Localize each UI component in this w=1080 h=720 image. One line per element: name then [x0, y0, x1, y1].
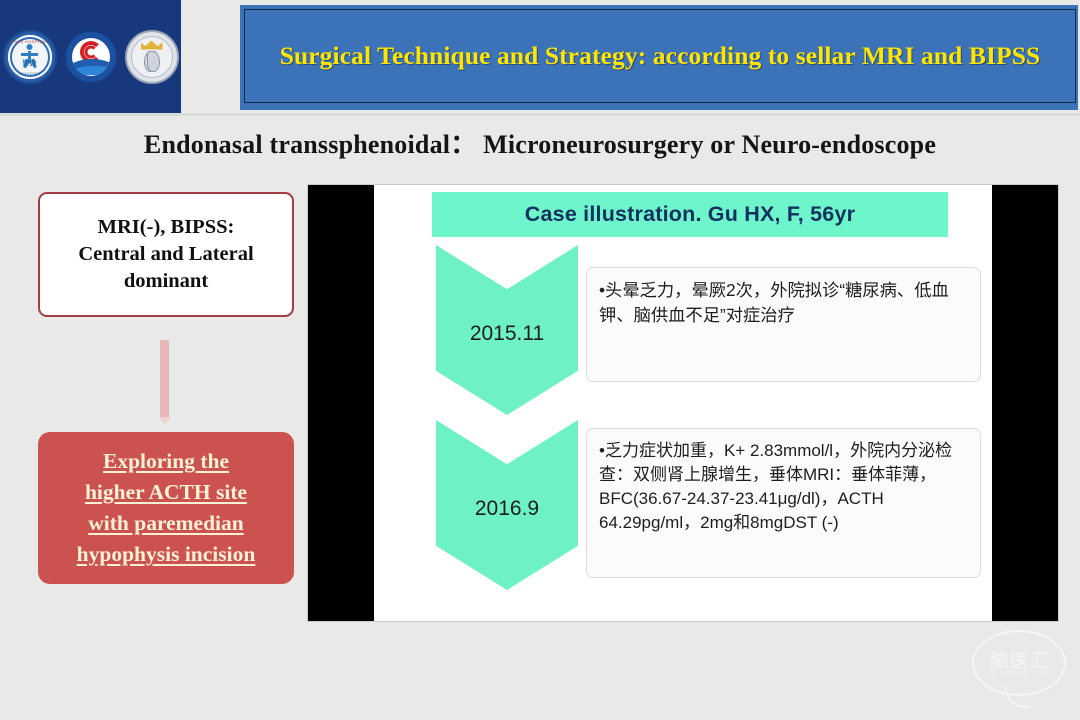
logo-panel: XXXX HOSPITAL 协会 XXXXXXXX: [0, 0, 181, 113]
exploring-acth-line3: with paremedian: [88, 511, 244, 535]
mri-bipss-line1: MRI(-), BIPSS:: [98, 216, 235, 238]
watermark-cn-text: 脑医汇: [968, 646, 1072, 673]
mri-bipss-text: MRI(-), BIPSS: Central and Lateral domin…: [78, 214, 253, 295]
mri-bipss-line3: dominant: [124, 270, 208, 292]
exploring-acth-line1: Exploring the: [103, 449, 229, 473]
timeline-date: 2015.11: [470, 322, 544, 346]
presentation-slide: XXXX HOSPITAL 协会 XXXXXXXX: [0, 0, 1080, 720]
exploring-acth-line2: higher ACTH site: [85, 480, 247, 504]
brainmed-watermark: 脑医汇 brainmed.com: [968, 620, 1072, 714]
red-c-wave-logo: [64, 30, 118, 84]
exploring-acth-box: Exploring the higher ACTH site with pare…: [38, 432, 294, 584]
timeline-chevron: 2015.11: [436, 245, 578, 415]
letterbox-bar-left: [308, 185, 374, 621]
timeline-row: 2016.9 •乏力症状加重，K+ 2.83mmol/l，外院内分泌检查：双侧肾…: [374, 420, 992, 590]
exploring-acth-line4: hypophysis incision: [77, 542, 256, 566]
case-illustration-banner: Case illustration. Gu HX, F, 56yr: [432, 192, 948, 237]
timeline-text: •乏力症状加重，K+ 2.83mmol/l，外院内分泌检查：双侧肾上腺增生，垂体…: [599, 439, 968, 536]
hospital-logo-bottom-text: XXXXXXXX: [5, 72, 55, 76]
header-divider: [0, 113, 1080, 116]
mri-bipss-line2: Central and Lateral: [78, 243, 253, 265]
timeline-text-box: •头晕乏力，晕厥2次，外院拟诊“糖尿病、低血钾、脑供血不足”对症治疗: [586, 267, 981, 382]
case-illustration-title: Case illustration. Gu HX, F, 56yr: [525, 202, 855, 227]
timeline-text-box: •乏力症状加重，K+ 2.83mmol/l，外院内分泌检查：双侧肾上腺增生，垂体…: [586, 428, 981, 578]
watermark-bubble-icon: [972, 630, 1066, 696]
brain-right-hemisphere: [147, 51, 160, 72]
exploring-acth-text: Exploring the higher ACTH site with pare…: [77, 446, 256, 570]
timeline-chevron: 2016.9: [436, 420, 578, 590]
crown-icon: [141, 41, 163, 50]
slide-header: XXXX HOSPITAL 协会 XXXXXXXX: [0, 0, 1080, 114]
slide-subtitle: Endonasal transsphenoidal： Microneurosur…: [0, 124, 1080, 161]
timeline-row: 2015.11 •头晕乏力，晕厥2次，外院拟诊“糖尿病、低血钾、脑供血不足”对症…: [374, 245, 992, 415]
hospital-emblem-logo: XXXX HOSPITAL 协会 XXXXXXXX: [3, 30, 57, 84]
watermark-en-text: brainmed.com: [968, 670, 1072, 676]
timeline-text: •头晕乏力，晕厥2次，外院拟诊“糖尿病、低血钾、脑供血不足”对症治疗: [599, 278, 968, 328]
embedded-slide-content: Case illustration. Gu HX, F, 56yr 2015.1…: [374, 185, 992, 621]
downward-connector-arrow: [160, 340, 169, 418]
watermark-bubble-tail: [1004, 686, 1030, 708]
slide-title: Surgical Technique and Strategy: accordi…: [280, 41, 1041, 71]
title-box: Surgical Technique and Strategy: accordi…: [244, 9, 1076, 103]
hospital-logo-cn-text: 协会: [5, 58, 55, 68]
letterbox-bar-right: [992, 185, 1058, 621]
timeline-date: 2016.9: [475, 497, 539, 521]
embedded-case-slide: Case illustration. Gu HX, F, 56yr 2015.1…: [307, 184, 1059, 622]
title-banner: Surgical Technique and Strategy: accordi…: [240, 5, 1078, 110]
mri-bipss-box: MRI(-), BIPSS: Central and Lateral domin…: [38, 192, 294, 317]
crowned-brain-logo: [125, 30, 179, 84]
